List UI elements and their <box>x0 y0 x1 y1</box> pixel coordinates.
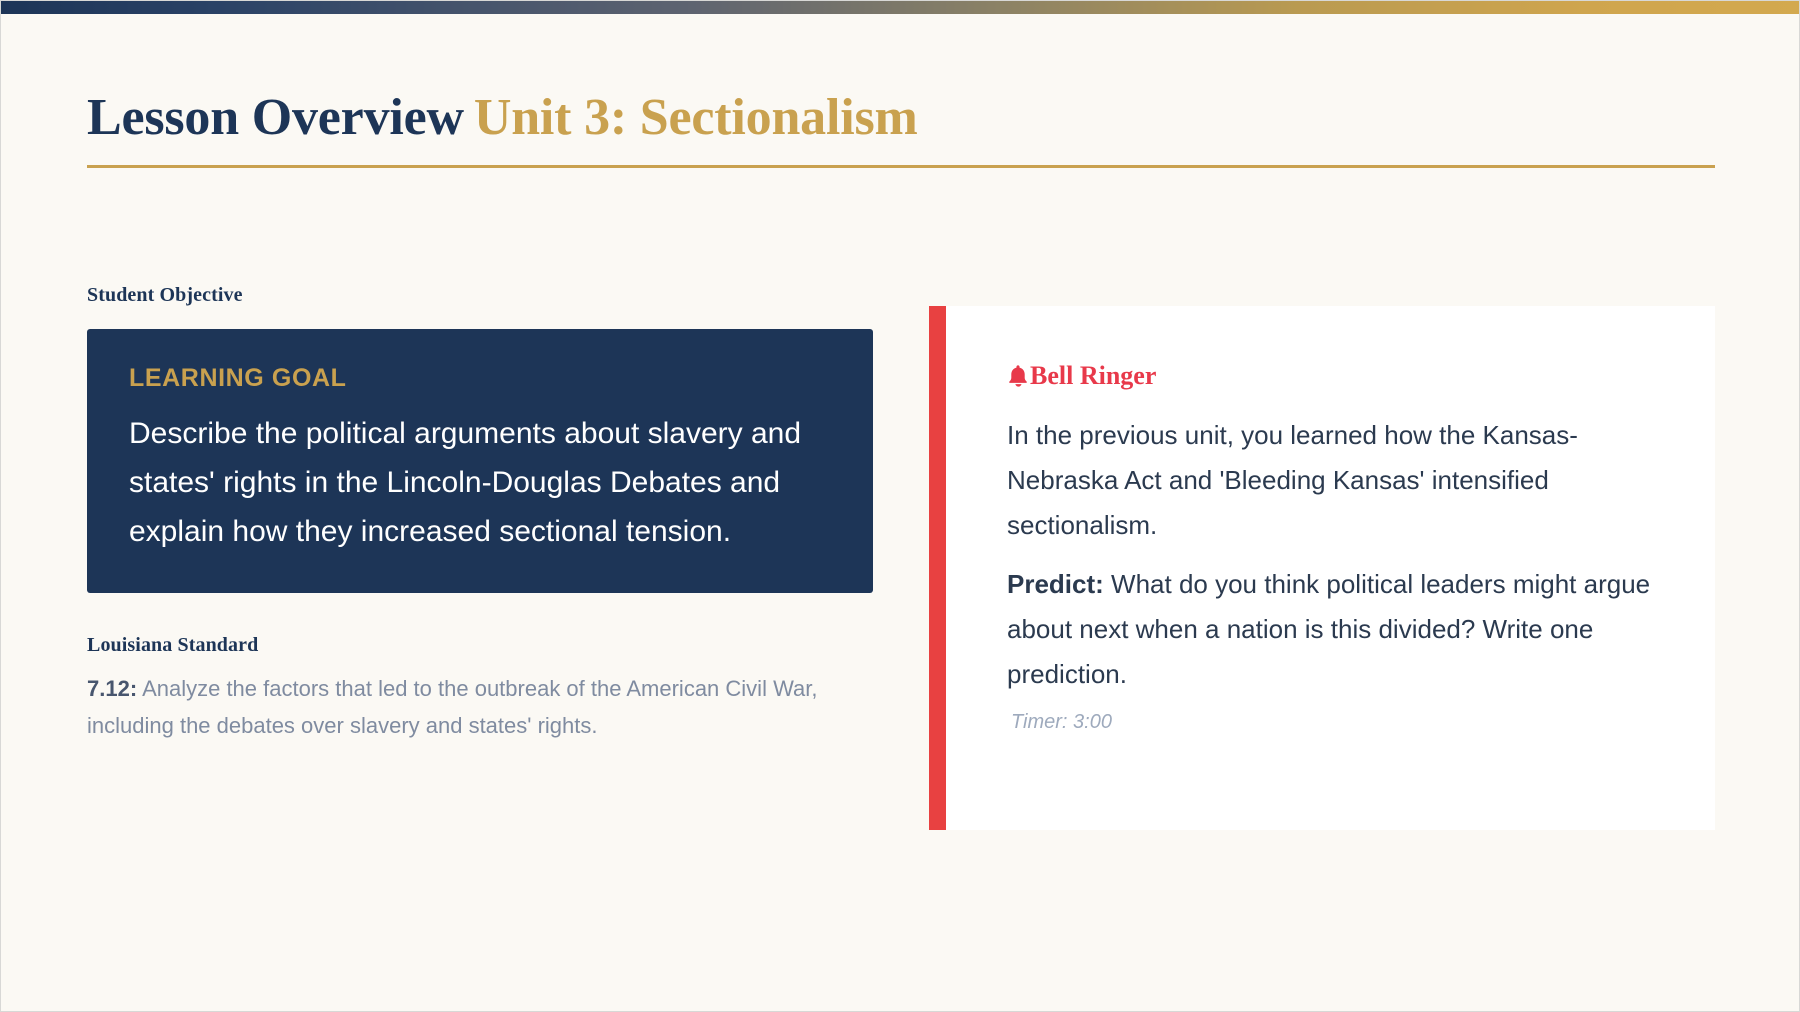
title-main-text: Lesson Overview <box>87 89 464 146</box>
bell-ringer-card: Bell Ringer In the previous unit, you le… <box>929 306 1715 830</box>
bell-ringer-prompt-text: What do you think political leaders migh… <box>1007 569 1650 689</box>
learning-goal-text: Describe the political arguments about s… <box>129 409 831 557</box>
louisiana-standard-text: 7.12: Analyze the factors that led to th… <box>87 671 847 745</box>
page-title: Lesson OverviewUnit 3: Sectionalism <box>87 89 1715 147</box>
slide-body: Student Objective LEARNING GOAL Describe… <box>87 284 1715 854</box>
slide-header: Lesson OverviewUnit 3: Sectionalism <box>87 89 1715 147</box>
bell-ringer-timer: Timer: 3:00 <box>1007 711 1653 734</box>
learning-goal-kicker: LEARNING GOAL <box>129 364 831 393</box>
bell-ringer-prompt-lead: Predict: <box>1007 569 1104 599</box>
louisiana-standard-label: Louisiana Standard <box>87 634 873 657</box>
bell-ringer-accent-bar <box>929 306 946 830</box>
top-gradient-bar <box>1 1 1800 14</box>
learning-goal-card: LEARNING GOAL Describe the political arg… <box>87 329 873 593</box>
title-accent-text: Unit 3: Sectionalism <box>474 89 918 146</box>
title-divider-rule <box>87 165 1715 168</box>
bell-icon <box>1007 364 1029 388</box>
bell-ringer-prompt: Predict: What do you think political lea… <box>1007 562 1653 697</box>
bell-ringer-paragraph: In the previous unit, you learned how th… <box>1007 413 1653 548</box>
objective-column: Student Objective LEARNING GOAL Describe… <box>87 284 873 744</box>
bell-ringer-content: Bell Ringer In the previous unit, you le… <box>946 306 1715 830</box>
lesson-overview-slide: Lesson OverviewUnit 3: Sectionalism Stud… <box>0 0 1800 1012</box>
student-objective-label: Student Objective <box>87 284 873 307</box>
standard-description: Analyze the factors that led to the outb… <box>87 676 817 738</box>
standard-code: 7.12: <box>87 676 137 701</box>
bell-ringer-heading: Bell Ringer <box>1007 361 1653 391</box>
bell-ringer-heading-text: Bell Ringer <box>1030 361 1156 391</box>
